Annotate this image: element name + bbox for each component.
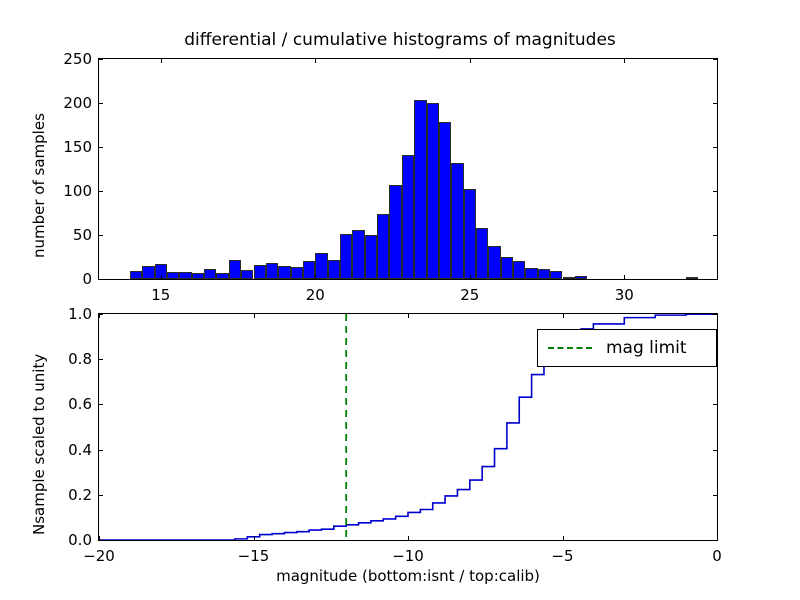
histogram-bar bbox=[328, 260, 340, 279]
top-ytick-mark bbox=[713, 147, 718, 148]
histogram-bar bbox=[278, 266, 290, 279]
top-ytick-mark bbox=[98, 103, 103, 104]
bottom-ytick-mark bbox=[98, 359, 103, 360]
histogram-bar bbox=[142, 266, 154, 279]
top-ytick-label: 250 bbox=[52, 50, 92, 68]
top-xtick-label: 20 bbox=[306, 286, 325, 304]
top-ytick-mark bbox=[98, 191, 103, 192]
top-xtick-label: 15 bbox=[151, 286, 170, 304]
histogram-bar bbox=[538, 269, 550, 279]
bottom-xtick-label: −10 bbox=[392, 547, 424, 565]
histogram-bar bbox=[254, 265, 266, 279]
top-ytick-mark bbox=[713, 279, 718, 280]
top-axis-ylabel: number of samples bbox=[30, 113, 48, 258]
histogram-bar bbox=[550, 271, 562, 279]
bottom-ytick-label: 0.4 bbox=[52, 441, 92, 459]
bottom-ytick-label: 0.8 bbox=[52, 350, 92, 368]
histogram-bar bbox=[525, 268, 537, 279]
bottom-axis-ylabel: Nsample scaled to unity bbox=[30, 354, 48, 535]
histogram-bar bbox=[686, 277, 698, 279]
top-ytick-mark bbox=[98, 147, 103, 148]
bottom-ytick-mark bbox=[98, 314, 103, 315]
top-ytick-mark bbox=[713, 235, 718, 236]
histogram-bar bbox=[291, 267, 303, 279]
histogram-bar bbox=[352, 230, 364, 279]
histogram-bar bbox=[488, 246, 500, 279]
top-ytick-mark bbox=[713, 103, 718, 104]
histogram-bar bbox=[340, 234, 352, 279]
top-ytick-mark bbox=[98, 59, 103, 60]
bottom-ytick-mark bbox=[98, 450, 103, 451]
histogram-bar bbox=[192, 273, 204, 279]
histogram-bar bbox=[439, 122, 451, 279]
bottom-xtick-mark bbox=[563, 313, 564, 318]
bottom-ytick-mark bbox=[713, 404, 718, 405]
figure-title: differential / cumulative histograms of … bbox=[0, 30, 800, 50]
histogram-bar bbox=[464, 189, 476, 279]
top-xtick-mark bbox=[315, 58, 316, 63]
bottom-xtick-label: −5 bbox=[551, 547, 573, 565]
histogram-bar bbox=[402, 155, 414, 279]
bottom-ytick-mark bbox=[713, 450, 718, 451]
legend[interactable]: mag limit bbox=[537, 329, 717, 367]
histogram-bar bbox=[451, 163, 463, 279]
top-ytick-label: 200 bbox=[52, 94, 92, 112]
mag-limit-line-icon bbox=[548, 347, 592, 349]
bottom-ytick-mark bbox=[98, 495, 103, 496]
legend-label-mag-limit: mag limit bbox=[606, 338, 687, 358]
top-xtick-label: 25 bbox=[460, 286, 479, 304]
bottom-xtick-mark bbox=[408, 313, 409, 318]
histogram-bar bbox=[266, 263, 278, 279]
differential-histogram-axes bbox=[98, 58, 718, 280]
histogram-bar bbox=[241, 270, 253, 279]
top-ytick-label: 50 bbox=[52, 226, 92, 244]
histogram-bar bbox=[204, 269, 216, 279]
bottom-ytick-label: 1.0 bbox=[52, 305, 92, 323]
bottom-ytick-label: 0.6 bbox=[52, 395, 92, 413]
histogram-bar bbox=[130, 271, 142, 279]
bottom-ytick-mark bbox=[713, 540, 718, 541]
top-ytick-mark bbox=[98, 279, 103, 280]
bottom-ytick-label: 0.2 bbox=[52, 486, 92, 504]
bottom-xtick-label: 0 bbox=[712, 547, 722, 565]
histogram-bar bbox=[427, 103, 439, 279]
bottom-ytick-mark bbox=[713, 495, 718, 496]
top-ytick-label: 0 bbox=[52, 270, 92, 288]
histogram-bar bbox=[513, 261, 525, 279]
histogram-bar bbox=[229, 260, 241, 279]
top-xtick-mark bbox=[315, 275, 316, 280]
histogram-bar bbox=[179, 272, 191, 279]
histogram-bar bbox=[389, 185, 401, 279]
top-ytick-mark bbox=[98, 235, 103, 236]
differential-histogram-plot-area bbox=[99, 59, 717, 279]
bottom-xtick-mark bbox=[254, 313, 255, 318]
histogram-bar bbox=[575, 276, 587, 279]
top-ytick-label: 150 bbox=[52, 138, 92, 156]
histogram-bar bbox=[303, 261, 315, 279]
x-axis-label: magnitude (bottom:isnt / top:calib) bbox=[276, 567, 540, 585]
bottom-xtick-label: −15 bbox=[238, 547, 270, 565]
top-xtick-mark bbox=[470, 58, 471, 63]
top-xtick-mark bbox=[161, 58, 162, 63]
top-xtick-label: 30 bbox=[615, 286, 634, 304]
histogram-bar bbox=[216, 273, 228, 279]
bottom-ytick-mark bbox=[98, 540, 103, 541]
bottom-xtick-mark bbox=[408, 536, 409, 541]
histogram-bar bbox=[377, 214, 389, 279]
matplotlib-figure: differential / cumulative histograms of … bbox=[0, 0, 800, 600]
bottom-xtick-label: −20 bbox=[83, 547, 115, 565]
top-xtick-mark bbox=[624, 58, 625, 63]
top-xtick-mark bbox=[161, 275, 162, 280]
histogram-bar bbox=[365, 235, 377, 279]
top-xtick-mark bbox=[470, 275, 471, 280]
histogram-bar bbox=[167, 272, 179, 279]
top-ytick-mark bbox=[713, 59, 718, 60]
bottom-ytick-mark bbox=[713, 314, 718, 315]
histogram-bar bbox=[501, 257, 513, 279]
histogram-bar bbox=[315, 253, 327, 279]
top-ytick-mark bbox=[713, 191, 718, 192]
top-ytick-label: 100 bbox=[52, 182, 92, 200]
top-xtick-mark bbox=[624, 275, 625, 280]
histogram-bar bbox=[414, 100, 426, 279]
bottom-xtick-mark bbox=[563, 536, 564, 541]
histogram-bar bbox=[476, 228, 488, 279]
bottom-xtick-mark bbox=[254, 536, 255, 541]
bottom-ytick-mark bbox=[98, 404, 103, 405]
bottom-ytick-label: 0.0 bbox=[52, 531, 92, 549]
histogram-bar bbox=[563, 277, 575, 279]
